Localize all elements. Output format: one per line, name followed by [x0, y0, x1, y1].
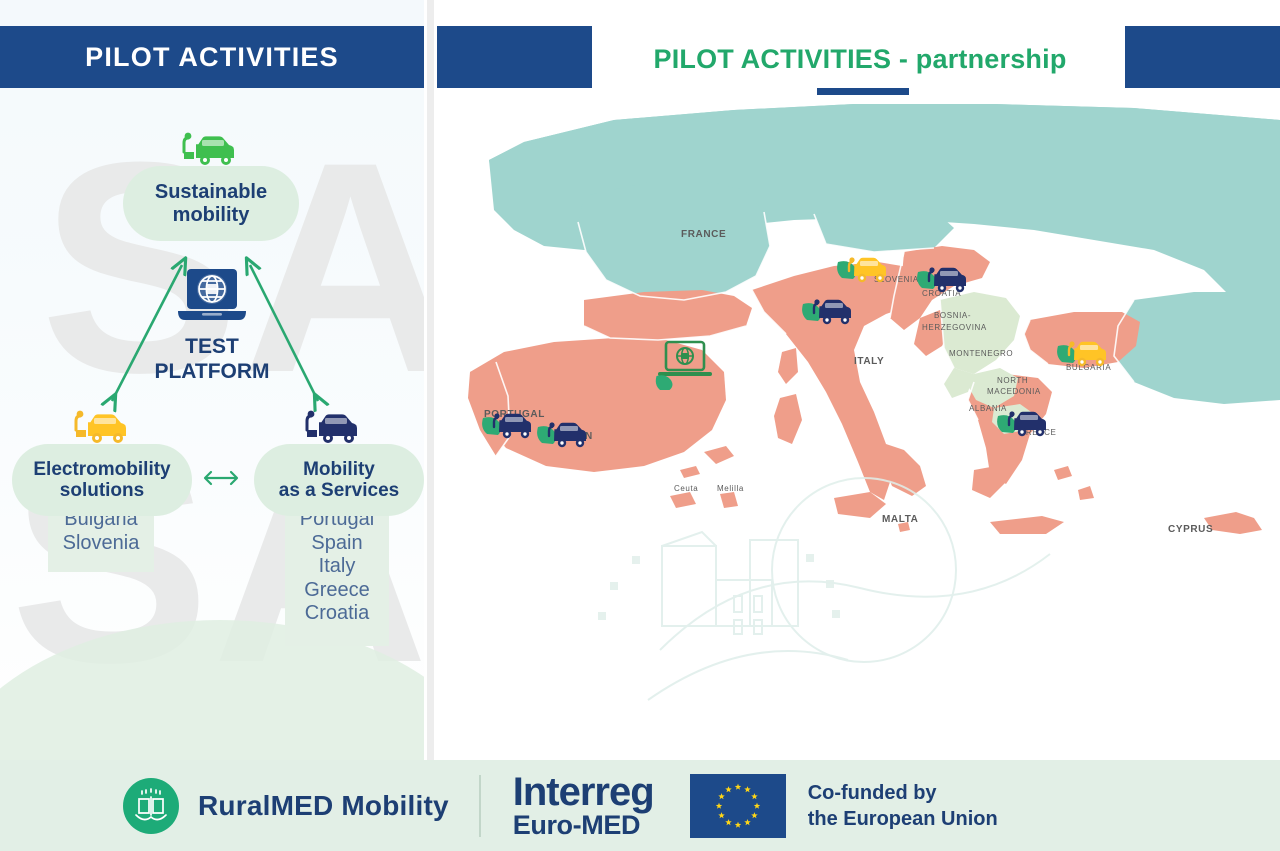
- ruralmed-emblem-icon: [122, 777, 180, 835]
- header-title-right-wrap: PILOT ACTIVITIES - partnership: [600, 30, 1120, 88]
- europe-mediterranean-map: [434, 0, 1280, 760]
- country-item: Spain: [311, 532, 362, 556]
- pill-electromobility-solutions[interactable]: Electromobility solutions: [12, 444, 192, 516]
- double-arrow-icon: [196, 465, 246, 491]
- pill-sustainable-mobility[interactable]: Sustainable mobility: [123, 166, 299, 241]
- electric-car-green-icon: [178, 128, 244, 172]
- eu-line2: the European Union: [808, 808, 998, 830]
- header-left-title: PILOT ACTIVITIES: [85, 42, 339, 73]
- header-underline: [817, 88, 909, 95]
- country-item: Italy: [319, 555, 356, 579]
- laptop-globe-icon: [176, 265, 248, 327]
- header-block-right: [1125, 26, 1280, 88]
- tp-line1: TEST: [185, 335, 239, 358]
- ruralmed-label: RuralMED Mobility: [198, 790, 449, 822]
- map-country-label: HERZEGOVINA: [922, 323, 987, 332]
- footer-bar: RuralMED Mobility Interreg Euro-MED Co-f…: [0, 760, 1280, 851]
- interreg-line2: Euro-MED: [513, 812, 654, 839]
- map-panel: SAMPLE SAMPLE: [434, 0, 1280, 760]
- greece-marker: [994, 402, 1056, 447]
- electric-car-yellow-icon: [70, 406, 136, 450]
- eu-funding-text: Co-funded by the European Union: [808, 780, 998, 832]
- country-item: Croatia: [305, 602, 369, 626]
- map-country-label: CYPRUS: [1168, 524, 1213, 535]
- country-item: Slovenia: [63, 532, 140, 556]
- map-country-label: Melilla: [717, 484, 744, 493]
- header-block-middle: [437, 26, 592, 88]
- map-country-label: ITALY: [854, 356, 884, 367]
- pill-label-line1: Sustainable: [155, 181, 267, 203]
- pill-label-line2: mobility: [173, 204, 250, 226]
- pill-label-line1: Electromobility: [33, 459, 170, 480]
- interreg-line1: Interreg: [513, 772, 654, 812]
- slovenia-marker: [834, 248, 896, 293]
- croatia-marker: [914, 258, 976, 303]
- test-platform-label: TEST PLATFORM: [150, 335, 274, 385]
- pill-label-line2: solutions: [60, 480, 144, 501]
- pill-label-line1: Mobility: [303, 459, 375, 480]
- eu-stars-icon: [690, 774, 786, 838]
- bulgaria-marker: [1054, 332, 1116, 377]
- header-right-title: PILOT ACTIVITIES - partnership: [653, 44, 1066, 75]
- map-country-label: FRANCE: [681, 229, 726, 240]
- maas-country-list: PortugalSpainItalyGreeceCroatia: [285, 500, 389, 646]
- map-country-label: MONTENEGRO: [949, 349, 1013, 358]
- portugal-marker: [479, 404, 541, 449]
- electric-car-navy-icon: [301, 406, 367, 450]
- eu-line1: Co-funded by: [808, 782, 937, 804]
- map-country-label: MALTA: [882, 514, 919, 525]
- map-country-label: NORTH: [997, 376, 1028, 385]
- pill-mobility-as-a-service[interactable]: Mobility as a Services: [254, 444, 424, 516]
- interreg-logo[interactable]: Interreg Euro-MED: [513, 772, 654, 839]
- country-item: Greece: [304, 579, 370, 603]
- map-country-label: BOSNIA-: [934, 311, 971, 320]
- map-country-label: Ceuta: [674, 484, 698, 493]
- eu-flag-icon: [690, 774, 786, 838]
- header-bar-left: PILOT ACTIVITIES: [0, 26, 424, 88]
- tp-line2: PLATFORM: [154, 360, 269, 383]
- ruralmed-logo[interactable]: RuralMED Mobility: [122, 777, 449, 835]
- footer-divider: [479, 775, 481, 837]
- spain-marker-platform: [654, 338, 716, 397]
- infographic-root: SAMPLE SAMPLE Sustainable mobility: [0, 0, 1280, 851]
- panel-divider: [427, 0, 434, 760]
- pill-label-line2: as a Services: [279, 480, 399, 501]
- spain-marker-car: [534, 413, 596, 458]
- italy-marker: [799, 290, 861, 335]
- map-country-label: MACEDONIA: [987, 387, 1041, 396]
